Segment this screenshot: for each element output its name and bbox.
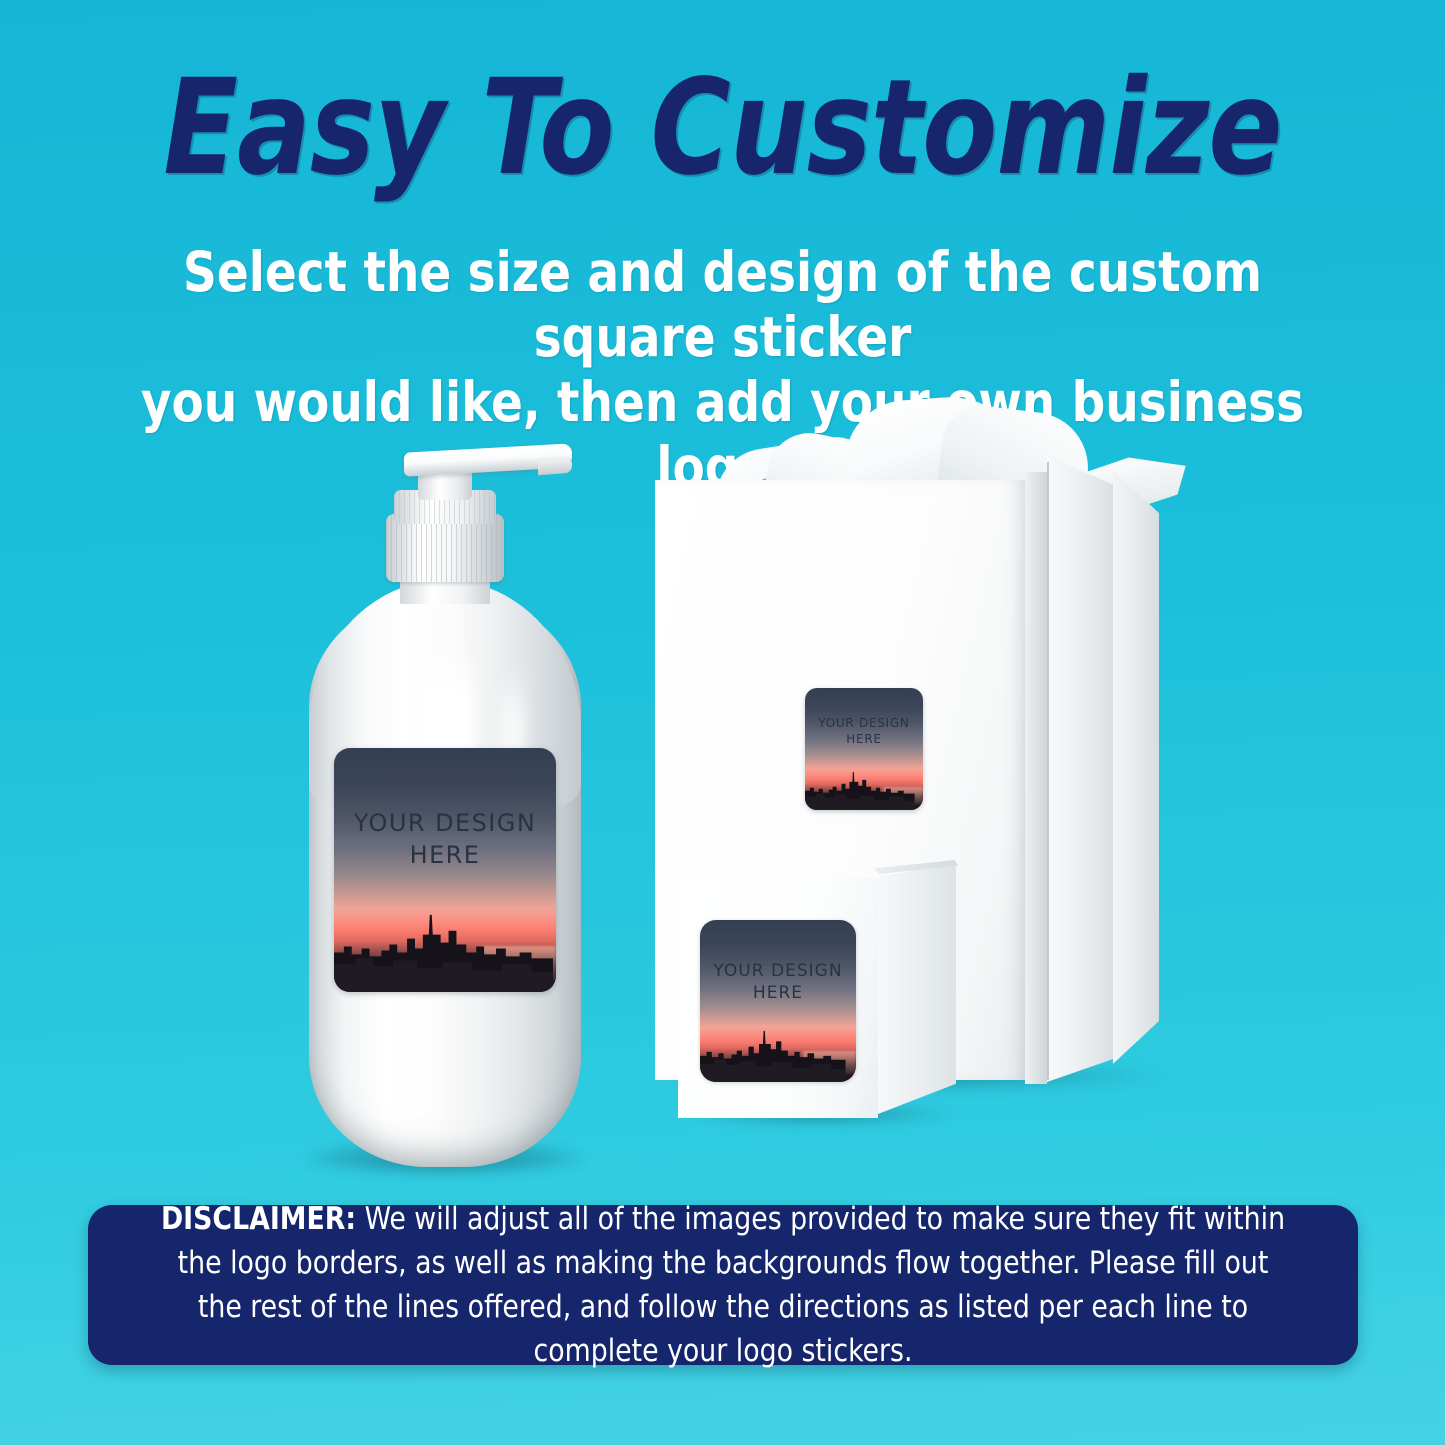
city-skyline-icon bbox=[334, 909, 553, 992]
disclaimer-banner: DISCLAIMER: We will adjust all of the im… bbox=[88, 1205, 1358, 1365]
bottle-sticker-text: YOUR DESIGN HERE bbox=[334, 808, 556, 871]
pump-collar-ribbed bbox=[386, 514, 504, 582]
small-box-sticker-text: YOUR DESIGN HERE bbox=[700, 960, 856, 1005]
city-skyline-icon bbox=[700, 1027, 846, 1082]
gift-box-sticker[interactable]: YOUR DESIGN HERE bbox=[805, 688, 923, 810]
sticker-text-line-1: YOUR DESIGN bbox=[805, 716, 923, 732]
gift-box-side-face bbox=[1047, 456, 1119, 1082]
promo-graphic: Easy To Customize Select the size and de… bbox=[0, 0, 1445, 1445]
gift-box-seam bbox=[1047, 462, 1049, 1080]
pump-bottle-mockup: YOUR DESIGN HERE bbox=[300, 432, 590, 1172]
gift-box-lid-edge bbox=[1025, 472, 1047, 1084]
disclaimer-text: DISCLAIMER: We will adjust all of the im… bbox=[113, 1197, 1332, 1373]
disclaimer-label: DISCLAIMER: bbox=[161, 1201, 356, 1237]
pump-nozzle-tip bbox=[538, 459, 572, 475]
small-box-mockup: YOUR DESIGN HERE bbox=[678, 862, 963, 1120]
gift-box-back-face bbox=[1113, 458, 1159, 1070]
small-box-sticker[interactable]: YOUR DESIGN HERE bbox=[700, 920, 856, 1082]
sticker-text-line-2: HERE bbox=[334, 840, 556, 872]
sticker-text-line-1: YOUR DESIGN bbox=[700, 960, 856, 982]
city-skyline-icon bbox=[805, 769, 915, 810]
subtitle-line-1: Select the size and design of the custom… bbox=[122, 240, 1324, 370]
bottle-sticker-label[interactable]: YOUR DESIGN HERE bbox=[334, 748, 556, 992]
small-box-side-face bbox=[878, 862, 956, 1114]
sticker-text-line-2: HERE bbox=[700, 982, 856, 1004]
sticker-text-line-2: HERE bbox=[805, 732, 923, 748]
gift-box-sticker-text: YOUR DESIGN HERE bbox=[805, 716, 923, 748]
sticker-text-line-1: YOUR DESIGN bbox=[334, 808, 556, 840]
page-title: Easy To Customize bbox=[58, 62, 1387, 194]
